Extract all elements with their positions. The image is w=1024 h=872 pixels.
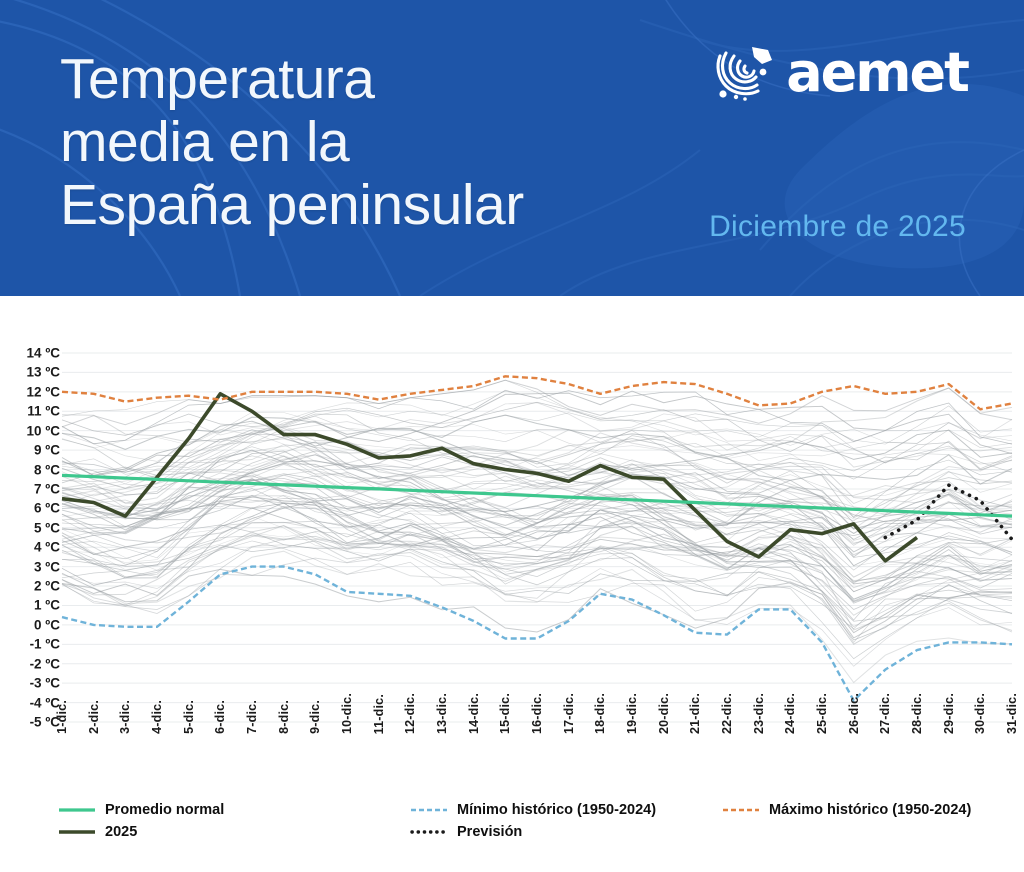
aemet-spain-contour-icon — [714, 44, 776, 102]
x-axis: 1-dic.2-dic.3-dic.4-dic.5-dic.6-dic.7-di… — [0, 296, 1024, 872]
x-axis-tick: 29-dic. — [942, 693, 956, 734]
x-axis-tick: 10-dic. — [340, 693, 354, 734]
legend-label: Mínimo histórico (1950-2024) — [457, 802, 656, 818]
x-axis-tick: 16-dic. — [530, 693, 544, 734]
x-axis-tick: 30-dic. — [973, 693, 987, 734]
x-axis-tick: 31-dic. — [1005, 693, 1019, 734]
legend-label: Previsión — [457, 824, 522, 840]
legend-label: Máximo histórico (1950-2024) — [769, 802, 971, 818]
legend-swatch-icon — [410, 826, 448, 838]
x-axis-tick: 7-dic. — [245, 700, 259, 734]
x-axis-tick: 5-dic. — [182, 700, 196, 734]
legend-label: Promedio normal — [105, 802, 224, 818]
x-axis-tick: 18-dic. — [593, 693, 607, 734]
x-axis-tick: 2-dic. — [87, 700, 101, 734]
header-banner: Temperatura media en la España peninsula… — [0, 0, 1024, 296]
x-axis-tick: 14-dic. — [467, 693, 481, 734]
x-axis-tick: 21-dic. — [688, 693, 702, 734]
x-axis-tick: 6-dic. — [213, 700, 227, 734]
chart-panel: Temperatura MEDIA en la ESPAÑA peninsula… — [0, 296, 1024, 872]
legend-swatch-icon — [58, 826, 96, 838]
x-axis-tick: 27-dic. — [878, 693, 892, 734]
x-axis-tick: 11-dic. — [372, 694, 386, 734]
x-axis-tick: 25-dic. — [815, 693, 829, 734]
x-axis-tick: 22-dic. — [720, 693, 734, 734]
x-axis-tick: 1-dic. — [55, 700, 69, 734]
legend-swatch-icon — [58, 804, 96, 816]
x-axis-tick: 24-dic. — [783, 693, 797, 734]
chart-legend: Promedio normal Mínimo histórico (1950-2… — [58, 802, 1018, 840]
x-axis-tick: 28-dic. — [910, 693, 924, 734]
header-subtitle-month: Diciembre de 2025 — [709, 210, 966, 244]
x-axis-tick: 8-dic. — [277, 700, 291, 734]
legend-item-maximo-historico[interactable]: Máximo histórico (1950-2024) — [722, 802, 1018, 818]
legend-label: 2025 — [105, 824, 137, 840]
page-title: Temperatura media en la España peninsula… — [60, 48, 524, 237]
legend-item-prevision[interactable]: Previsión — [410, 824, 722, 840]
legend-item-2025[interactable]: 2025 — [58, 824, 410, 840]
x-axis-tick: 19-dic. — [625, 693, 639, 734]
x-axis-tick: 12-dic. — [403, 693, 417, 734]
x-axis-tick: 9-dic. — [308, 700, 322, 734]
x-axis-tick: 20-dic. — [657, 693, 671, 734]
legend-swatch-icon — [410, 804, 448, 816]
legend-item-promedio-normal[interactable]: Promedio normal — [58, 802, 410, 818]
aemet-temperature-infographic: Temperatura media en la España peninsula… — [0, 0, 1024, 872]
x-axis-tick: 13-dic. — [435, 693, 449, 734]
x-axis-tick: 23-dic. — [752, 693, 766, 734]
x-axis-tick: 17-dic. — [562, 693, 576, 734]
aemet-logo: aemet — [714, 44, 968, 102]
x-axis-tick: 26-dic. — [847, 693, 861, 734]
x-axis-tick: 15-dic. — [498, 693, 512, 734]
legend-item-minimo-historico[interactable]: Mínimo histórico (1950-2024) — [410, 802, 722, 818]
x-axis-tick: 3-dic. — [118, 700, 132, 734]
aemet-wordmark: aemet — [786, 46, 968, 100]
x-axis-tick: 4-dic. — [150, 700, 164, 734]
legend-swatch-icon — [722, 804, 760, 816]
